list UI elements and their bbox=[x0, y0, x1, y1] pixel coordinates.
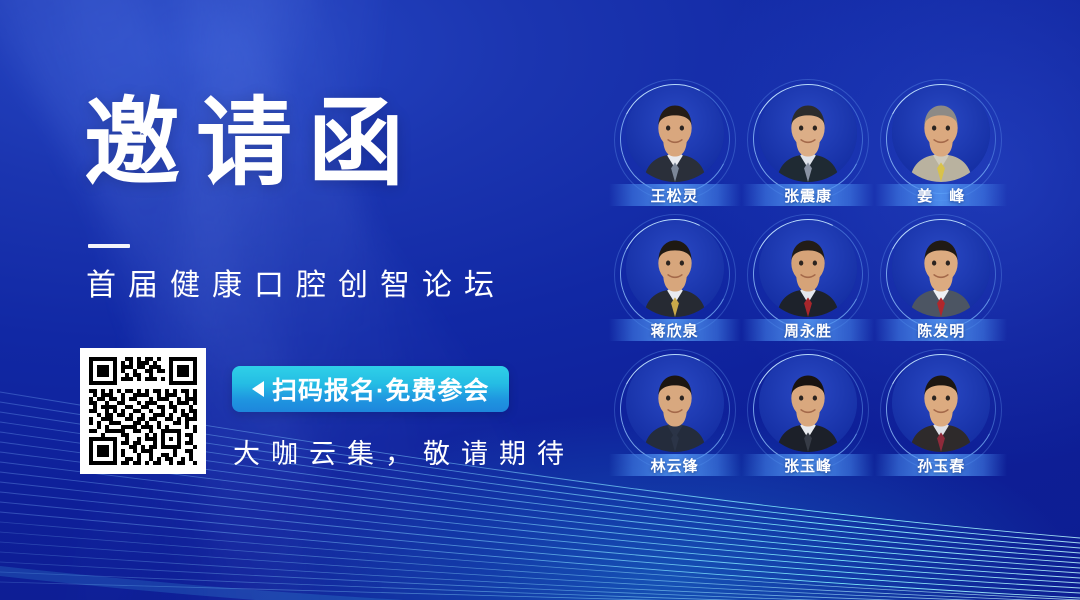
portrait-avatar-icon bbox=[626, 84, 724, 182]
page-title: 邀请函 bbox=[84, 96, 420, 192]
scan-register-label: 扫码报名·免费参会 bbox=[272, 371, 489, 407]
speaker-card[interactable]: 姜 峰 bbox=[875, 84, 1008, 219]
portrait-avatar-icon bbox=[759, 354, 857, 452]
portrait-avatar-icon bbox=[892, 84, 990, 182]
speaker-name-plate: 姜 峰 bbox=[875, 184, 1007, 206]
speaker-card[interactable]: 周永胜 bbox=[741, 219, 874, 354]
triangle-left-icon bbox=[252, 381, 264, 397]
left-content-panel: 邀请函 首届健康口腔创智论坛 bbox=[0, 0, 600, 600]
portrait-avatar-icon bbox=[626, 219, 724, 317]
speaker-card[interactable]: 张震康 bbox=[741, 84, 874, 219]
speaker-name-plate: 王松灵 bbox=[609, 184, 741, 206]
qr-code-icon[interactable] bbox=[80, 348, 206, 474]
speaker-name-plate: 张震康 bbox=[742, 184, 874, 206]
speaker-name-plate: 林云锋 bbox=[609, 454, 741, 476]
speaker-card[interactable]: 陈发明 bbox=[875, 219, 1008, 354]
speaker-name-plate: 蒋欣泉 bbox=[609, 319, 741, 341]
speaker-card[interactable]: 林云锋 bbox=[608, 354, 741, 489]
speaker-grid: 王松灵 张震康 bbox=[608, 84, 1008, 489]
portrait-avatar-icon bbox=[626, 354, 724, 452]
scan-register-button[interactable]: 扫码报名·免费参会 bbox=[232, 366, 509, 412]
portrait-avatar-icon bbox=[892, 354, 990, 452]
speaker-card[interactable]: 蒋欣泉 bbox=[608, 219, 741, 354]
portrait-avatar-icon bbox=[892, 219, 990, 317]
tagline: 大咖云集，敬请期待 bbox=[233, 432, 575, 471]
portrait-avatar-icon bbox=[759, 219, 857, 317]
speaker-card[interactable]: 张玉峰 bbox=[741, 354, 874, 489]
speaker-name-plate: 周永胜 bbox=[742, 319, 874, 341]
portrait-avatar-icon bbox=[759, 84, 857, 182]
invitation-poster: 邀请函 首届健康口腔创智论坛 bbox=[0, 0, 1080, 600]
speaker-card[interactable]: 孙玉春 bbox=[875, 354, 1008, 489]
title-divider bbox=[88, 244, 130, 248]
speaker-name-plate: 陈发明 bbox=[875, 319, 1007, 341]
speaker-card[interactable]: 王松灵 bbox=[608, 84, 741, 219]
page-subtitle: 首届健康口腔创智论坛 bbox=[86, 268, 506, 304]
speaker-name-plate: 张玉峰 bbox=[742, 454, 874, 476]
speaker-name-plate: 孙玉春 bbox=[875, 454, 1007, 476]
